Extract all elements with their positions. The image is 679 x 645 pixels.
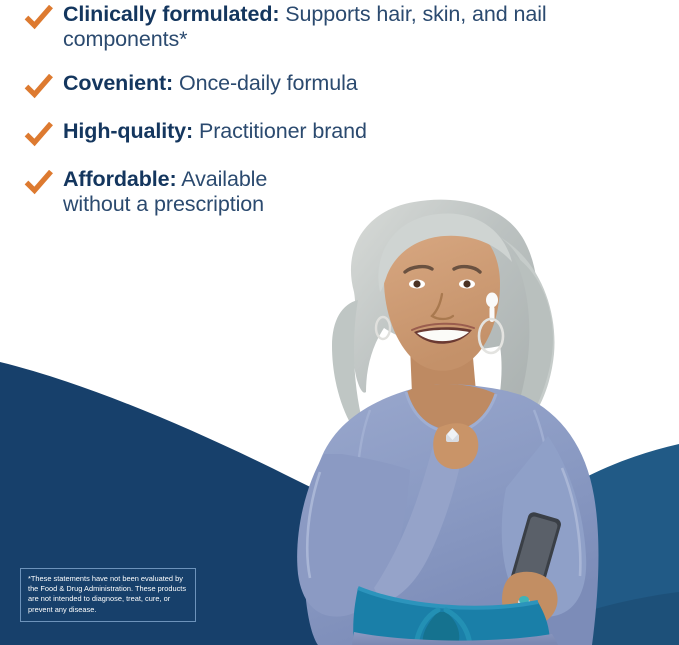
benefit-item: High-quality: Practitioner brand xyxy=(0,119,620,148)
benefit-lead: Covenient: xyxy=(63,71,173,95)
benefit-item: Clinically formulated: Supports hair, sk… xyxy=(0,2,620,52)
orange-checkmark-icon xyxy=(24,74,54,100)
benefit-text: Affordable: Available without a prescrip… xyxy=(63,167,328,217)
benefit-lead: High-quality: xyxy=(63,119,193,143)
benefit-text: Covenient: Once-daily formula xyxy=(63,71,358,96)
benefit-item: Affordable: Available without a prescrip… xyxy=(0,167,620,217)
benefit-lead: Affordable: xyxy=(63,167,177,191)
model-photo xyxy=(262,196,662,645)
fda-disclaimer-box: *These statements have not been evaluate… xyxy=(20,568,196,622)
benefit-item: Covenient: Once-daily formula xyxy=(0,71,620,100)
fda-disclaimer-text: *These statements have not been evaluate… xyxy=(28,574,189,615)
benefit-list: Clinically formulated: Supports hair, sk… xyxy=(0,0,620,236)
product-benefits-banner: Clinically formulated: Supports hair, sk… xyxy=(0,0,679,645)
benefit-text: High-quality: Practitioner brand xyxy=(63,119,367,144)
benefit-text: Clinically formulated: Supports hair, sk… xyxy=(63,2,583,52)
orange-checkmark-icon xyxy=(24,5,54,31)
benefit-rest: Once-daily formula xyxy=(173,71,358,95)
benefit-rest: Practitioner brand xyxy=(193,119,367,143)
benefit-lead: Clinically formulated: xyxy=(63,2,279,26)
orange-checkmark-icon xyxy=(24,170,54,196)
orange-checkmark-icon xyxy=(24,122,54,148)
